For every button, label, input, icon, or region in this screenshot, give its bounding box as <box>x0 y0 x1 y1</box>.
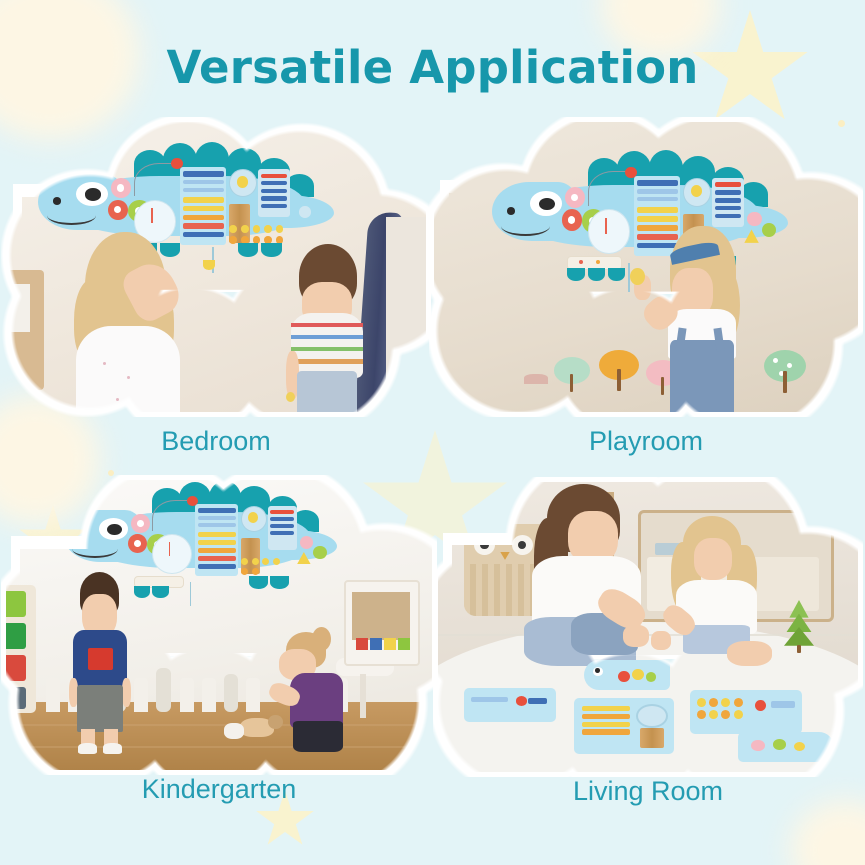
green-tree-toy <box>784 600 814 652</box>
busy-board-piece-left <box>464 688 556 722</box>
cloud-frame-kindergarten <box>6 480 432 770</box>
cloud-photo-playroom <box>434 122 858 412</box>
cloud-frame-playroom <box>434 122 858 412</box>
wall-tree-decal-orange <box>599 350 639 390</box>
toy-shelf-with-blocks <box>344 580 420 666</box>
scene-card-kindergarten[interactable]: Kindergarten <box>6 480 432 770</box>
cactus-decor <box>156 668 171 712</box>
busy-board-piece-abacus <box>690 690 802 734</box>
wall-tree-decal-dotted <box>764 350 806 392</box>
woman-living-room <box>524 484 654 674</box>
cloud-photo-bedroom <box>6 122 426 412</box>
owl-basket-toys <box>472 512 512 536</box>
child-boy-kindergarten <box>68 572 132 754</box>
toy-table <box>336 658 394 722</box>
scene-card-bedroom[interactable]: Bedroom <box>6 122 426 412</box>
busy-board-piece-tail <box>738 732 834 762</box>
scene-card-playroom[interactable]: Playroom <box>434 122 858 412</box>
page-title: Versatile Application <box>0 40 865 96</box>
busy-board-piece-head <box>584 660 670 690</box>
cactus-decor <box>224 674 238 712</box>
wall-tree-decal-green <box>554 357 590 391</box>
cloud-photo-living-room <box>438 482 858 772</box>
cloud-frame-bedroom <box>6 122 426 412</box>
scene-label-bedroom: Bedroom <box>6 424 426 458</box>
child-playroom <box>649 222 755 412</box>
colorful-storage-shelves <box>6 585 36 713</box>
busy-board-piece-xylophone <box>574 698 674 754</box>
child-boy-bedroom <box>282 244 374 412</box>
wall-grass-decal <box>524 374 548 384</box>
cloud-photo-kindergarten <box>6 480 432 770</box>
scene-label-playroom: Playroom <box>434 424 858 458</box>
toy-dog <box>224 712 284 744</box>
cloud-frame-living-room <box>438 482 858 772</box>
scene-card-living-room[interactable]: Living Room <box>438 482 858 772</box>
child-girl-bedroom <box>54 232 194 412</box>
scenes-grid: Bedroom <box>0 110 865 860</box>
girl-living-room <box>658 516 770 676</box>
scene-label-kindergarten: Kindergarten <box>6 772 432 806</box>
scene-label-living-room: Living Room <box>438 774 858 808</box>
